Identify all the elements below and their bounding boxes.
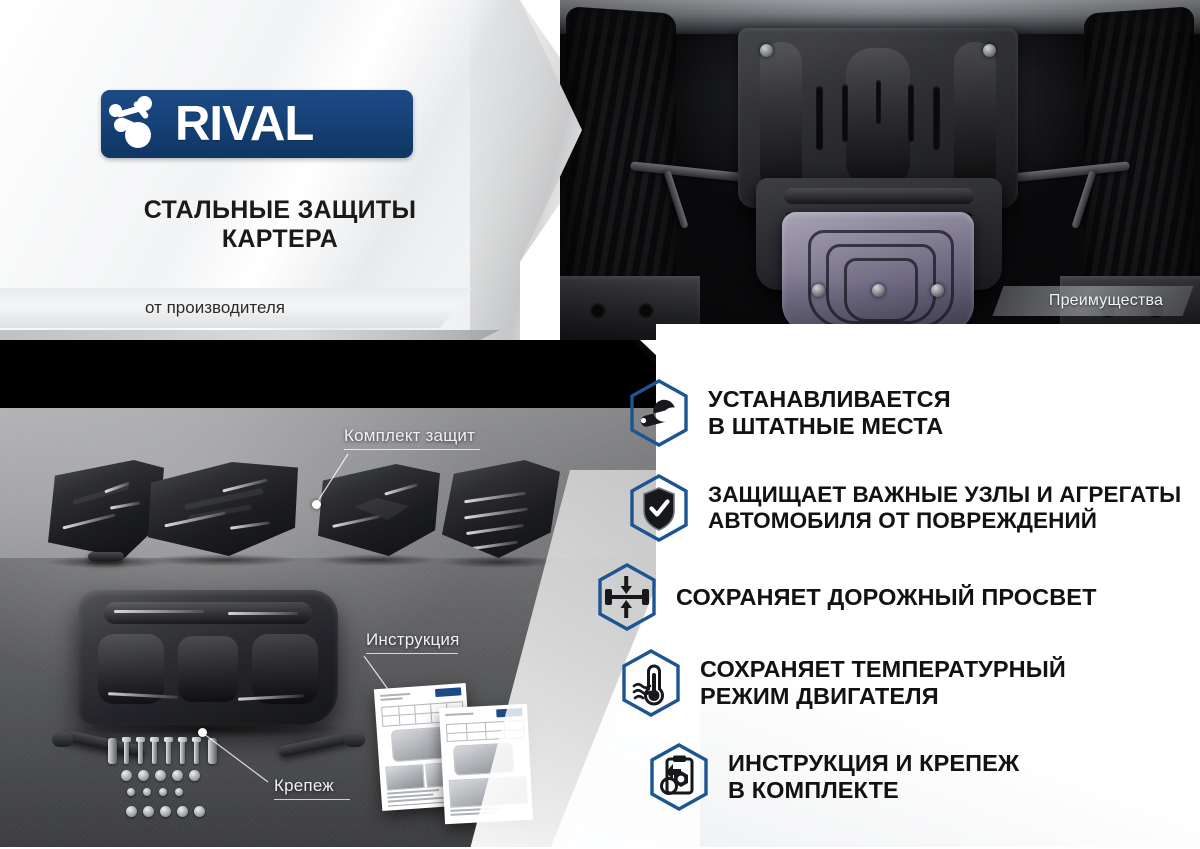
- sheet-logo-icon: [435, 687, 461, 697]
- page-title-line-2: КАРТЕРА: [60, 225, 500, 254]
- ground-clearance-icon-hex: [596, 562, 658, 632]
- feature-temperature-line1: СОХРАНЯЕТ ТЕМПЕРАТУРНЫЙ: [700, 656, 1066, 683]
- callout-kit-dot: [312, 500, 321, 509]
- feature-kit-text: ИНСТРУКЦИЯ И КРЕПЕЖ В КОМПЛЕКТЕ: [728, 750, 1019, 804]
- header-underline-strip: [0, 330, 500, 340]
- feature-kit-line1: ИНСТРУКЦИЯ И КРЕПЕЖ: [728, 750, 1019, 777]
- callout-instruction-label: Инструкция: [366, 630, 460, 650]
- callout-kit: Комплект защит: [344, 426, 480, 450]
- molecule-icon: [107, 94, 177, 154]
- feature-item-temperature: СОХРАНЯЕТ ТЕМПЕРАТУРНЫЙ РЕЖИМ ДВИГАТЕЛЯ: [620, 648, 1066, 718]
- callout-hardware-dot: [198, 728, 207, 737]
- callout-hardware-rule: [274, 799, 350, 800]
- feature-item-protect: ЗАЩИЩАЕТ ВАЖНЫЕ УЗЛЫ И АГРЕГАТЫ АВТОМОБИ…: [628, 473, 1181, 543]
- callout-instruction-rule: [366, 653, 458, 654]
- skid-plate-4: [442, 460, 560, 558]
- subtitle-label: от производителя: [0, 288, 430, 328]
- skid-plate-2: [148, 462, 298, 556]
- product-banner: Преимущества RIVAL СТАЛЬНЫЕ ЗАЩИТЫ КАРТЕ…: [0, 0, 1200, 849]
- feature-item-clearance: СОХРАНЯЕТ ДОРОЖНЫЙ ПРОСВЕТ: [596, 562, 1097, 632]
- feature-protect-line2: АВТОМОБИЛЯ ОТ ПОВРЕЖДЕНИЙ: [708, 508, 1181, 534]
- clipboard-bolt-icon: [648, 742, 710, 812]
- feature-temperature-line2: РЕЖИМ ДВИГАТЕЛЯ: [700, 683, 1066, 710]
- feature-clearance-text: СОХРАНЯЕТ ДОРОЖНЫЙ ПРОСВЕТ: [676, 584, 1097, 611]
- rival-logo-text: RIVAL: [175, 100, 313, 149]
- ground-clearance-icon: [596, 562, 658, 632]
- wrench-icon-hex: [628, 378, 690, 448]
- clipboard-bolt-icon-hex: [648, 742, 710, 812]
- mount-bracket-right-head: [344, 732, 365, 747]
- advantages-tab-label: Преимущества: [1016, 288, 1196, 314]
- shield-check-icon-hex: [628, 473, 690, 543]
- sheet-logo-icon-2: [496, 708, 522, 717]
- instruction-sheet-2: [439, 704, 533, 824]
- feature-clearance-line1: СОХРАНЯЕТ ДОРОЖНЫЙ ПРОСВЕТ: [676, 584, 1097, 611]
- page-title-line-1: СТАЛЬНЫЕ ЗАЩИТЫ: [60, 196, 500, 225]
- thermometer-icon: [620, 648, 682, 718]
- main-skid-plate: [78, 590, 338, 725]
- skid-plate-1-tab: [88, 552, 124, 561]
- thermometer-icon-hex: [620, 648, 682, 718]
- wrench-icon: [628, 378, 690, 448]
- callout-instruction: Инструкция: [366, 630, 460, 654]
- feature-temperature-text: СОХРАНЯЕТ ТЕМПЕРАТУРНЫЙ РЕЖИМ ДВИГАТЕЛЯ: [700, 656, 1066, 710]
- feature-protect-line1: ЗАЩИЩАЕТ ВАЖНЫЕ УЗЛЫ И АГРЕГАТЫ: [708, 482, 1181, 508]
- feature-item-install: УСТАНАВЛИВАЕТСЯ В ШТАТНЫЕ МЕСТА: [628, 378, 951, 448]
- skid-plate-1: [48, 460, 164, 558]
- plate-shadow-2: [148, 554, 298, 566]
- mount-bracket-left-head: [52, 732, 73, 747]
- feature-install-line1: УСТАНАВЛИВАЕТСЯ: [708, 386, 951, 413]
- callout-kit-label: Комплект защит: [344, 426, 480, 446]
- page-title: СТАЛЬНЫЕ ЗАЩИТЫ КАРТЕРА: [60, 196, 500, 253]
- feature-item-kit: ИНСТРУКЦИЯ И КРЕПЕЖ В КОМПЛЕКТЕ: [648, 742, 1019, 812]
- shield-check-icon: [628, 473, 690, 543]
- plate-shadow-3: [316, 554, 436, 566]
- feature-protect-text: ЗАЩИЩАЕТ ВАЖНЫЕ УЗЛЫ И АГРЕГАТЫ АВТОМОБИ…: [708, 482, 1181, 533]
- feature-kit-line2: В КОМПЛЕКТЕ: [728, 777, 1019, 804]
- rival-logo: RIVAL: [101, 90, 413, 158]
- feature-install-text: УСТАНАВЛИВАЕТСЯ В ШТАТНЫЕ МЕСТА: [708, 386, 951, 440]
- callout-kit-rule: [344, 449, 480, 450]
- callout-hardware: Крепеж: [274, 776, 350, 800]
- callout-hardware-leader-icon: [204, 734, 284, 794]
- feature-install-line2: В ШТАТНЫЕ МЕСТА: [708, 413, 951, 440]
- callout-hardware-label: Крепеж: [274, 776, 350, 796]
- callout-instruction-leader-icon: [364, 656, 410, 702]
